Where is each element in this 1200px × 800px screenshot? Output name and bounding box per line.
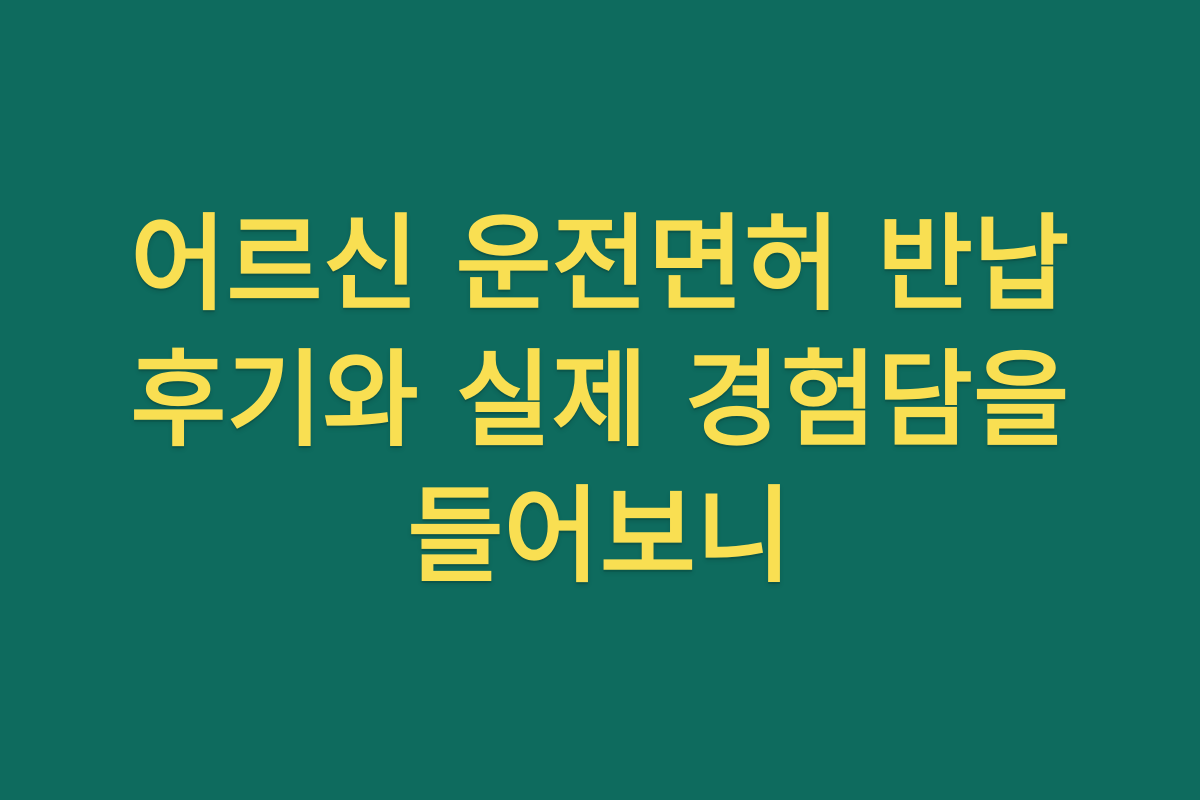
headline-text: 어르신 운전면허 반납 후기와 실제 경험담을 들어보니: [85, 196, 1115, 604]
thumbnail-card: 어르신 운전면허 반납 후기와 실제 경험담을 들어보니: [0, 0, 1200, 800]
